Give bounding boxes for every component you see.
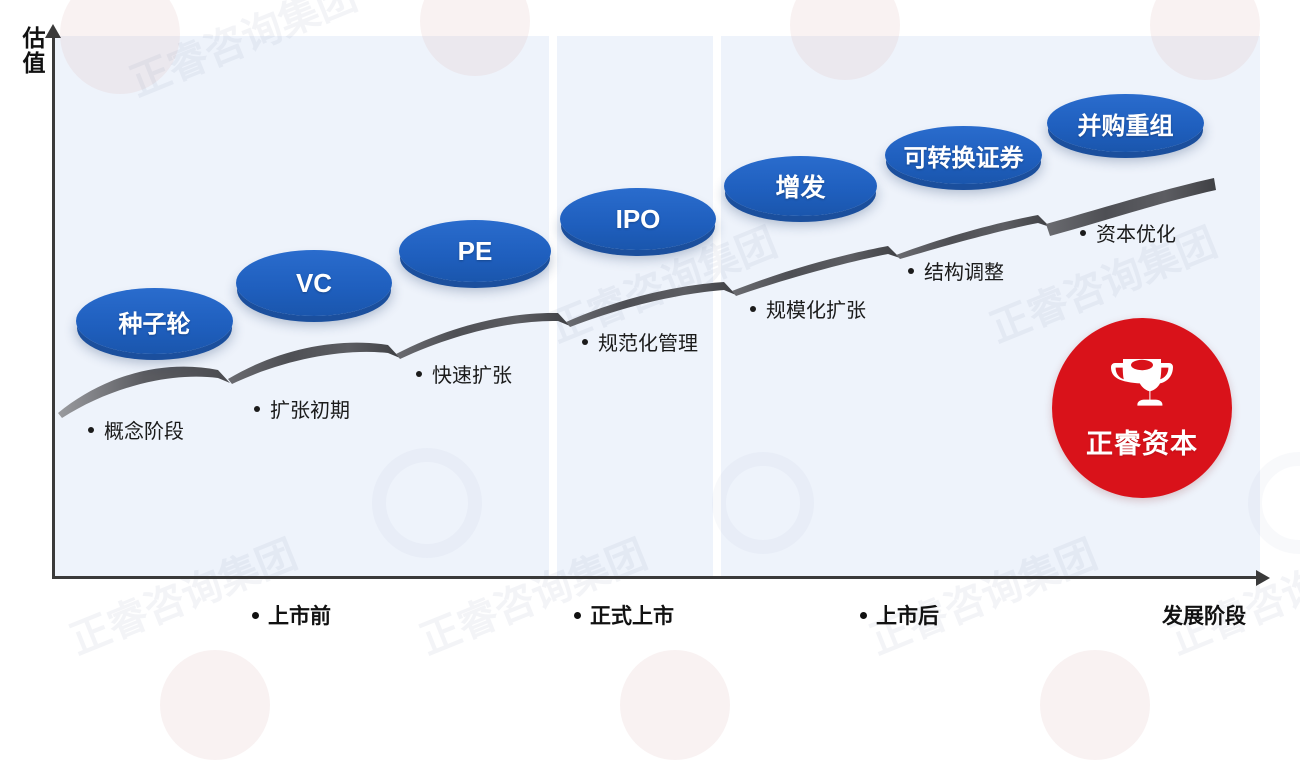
x-axis xyxy=(52,576,1260,579)
curve-segment-5 xyxy=(732,246,900,296)
x-axis-arrow-icon xyxy=(1256,570,1270,586)
bubble-secondary-offering[interactable]: 增发 xyxy=(724,156,877,216)
brand-badge-label: 正睿资本 xyxy=(1086,422,1198,461)
caption-scaled-expansion-label: 规模化扩张 xyxy=(766,300,866,322)
y-axis-title-char-1: 估 xyxy=(14,26,54,51)
caption-standardized-management: 规范化管理 xyxy=(582,327,698,356)
bubble-vc[interactable]: VC xyxy=(236,250,392,316)
curve-segment-1 xyxy=(58,367,230,418)
bubble-convertible-securities[interactable]: 可转换证券 xyxy=(885,126,1042,184)
caption-capital-optimization: 资本优化 xyxy=(1080,218,1176,247)
stage-label-ipo: 正式上市 xyxy=(574,600,674,630)
curve-segment-6 xyxy=(896,215,1050,259)
bubble-secondary-offering-label: 增发 xyxy=(775,168,825,204)
caption-concept-stage: 概念阶段 xyxy=(88,415,184,444)
curve-segment-3 xyxy=(396,313,570,359)
bubble-pe[interactable]: PE xyxy=(399,220,551,282)
bubble-pe-label: PE xyxy=(458,236,493,267)
bubble-seed[interactable]: 种子轮 xyxy=(76,288,233,354)
caption-structural-adjustment: 结构调整 xyxy=(908,256,1004,285)
stage-label-ipo-text: 正式上市 xyxy=(590,605,674,628)
curve-segment-2 xyxy=(228,343,400,384)
bullet-dot-icon xyxy=(252,612,259,619)
bubble-merger-restructuring-label: 并购重组 xyxy=(1078,106,1174,141)
x-axis-title: 发展阶段 xyxy=(1162,600,1246,630)
stage-label-pre-ipo-text: 上市前 xyxy=(268,605,331,628)
stage-label-post-ipo: 上市后 xyxy=(860,600,939,630)
caption-scaled-expansion: 规模化扩张 xyxy=(750,294,866,323)
bubble-seed-label: 种子轮 xyxy=(119,304,191,339)
bullet-dot-icon xyxy=(254,406,260,412)
bullet-dot-icon xyxy=(908,268,914,274)
brand-badge[interactable]: 正睿资本 xyxy=(1052,318,1232,498)
caption-capital-optimization-label: 资本优化 xyxy=(1096,224,1176,246)
stage-label-pre-ipo: 上市前 xyxy=(252,600,331,630)
bullet-dot-icon xyxy=(88,427,94,433)
bullet-dot-icon xyxy=(582,339,588,345)
bullet-dot-icon xyxy=(750,306,756,312)
trophy-icon xyxy=(1111,356,1173,416)
y-axis-title: 估 值 xyxy=(14,26,54,76)
caption-standardized-management-label: 规范化管理 xyxy=(598,333,698,355)
diagram-canvas: 正睿咨询集团 正睿咨询集团 正睿咨询集团 正睿咨询集团 正睿咨询集团 正睿咨询集… xyxy=(0,0,1300,695)
bubble-convertible-securities-label: 可转换证券 xyxy=(904,138,1024,173)
y-axis-title-char-2: 值 xyxy=(14,51,54,76)
caption-early-expansion-label: 扩张初期 xyxy=(270,400,350,422)
bullet-dot-icon xyxy=(416,371,422,377)
y-axis xyxy=(52,36,55,579)
caption-concept-stage-label: 概念阶段 xyxy=(104,421,184,443)
caption-fast-expansion: 快速扩张 xyxy=(416,359,512,388)
bullet-dot-icon xyxy=(1080,230,1086,236)
bubble-vc-label: VC xyxy=(296,268,332,299)
caption-fast-expansion-label: 快速扩张 xyxy=(432,365,512,387)
bullet-dot-icon xyxy=(574,612,581,619)
stage-label-post-ipo-text: 上市后 xyxy=(876,605,939,628)
curve-segment-4 xyxy=(566,282,736,327)
caption-early-expansion: 扩张初期 xyxy=(254,394,350,423)
caption-structural-adjustment-label: 结构调整 xyxy=(924,262,1004,284)
bubble-ipo[interactable]: IPO xyxy=(560,188,716,250)
bubble-ipo-label: IPO xyxy=(616,204,661,235)
bubble-merger-restructuring[interactable]: 并购重组 xyxy=(1047,94,1204,152)
bullet-dot-icon xyxy=(860,612,867,619)
